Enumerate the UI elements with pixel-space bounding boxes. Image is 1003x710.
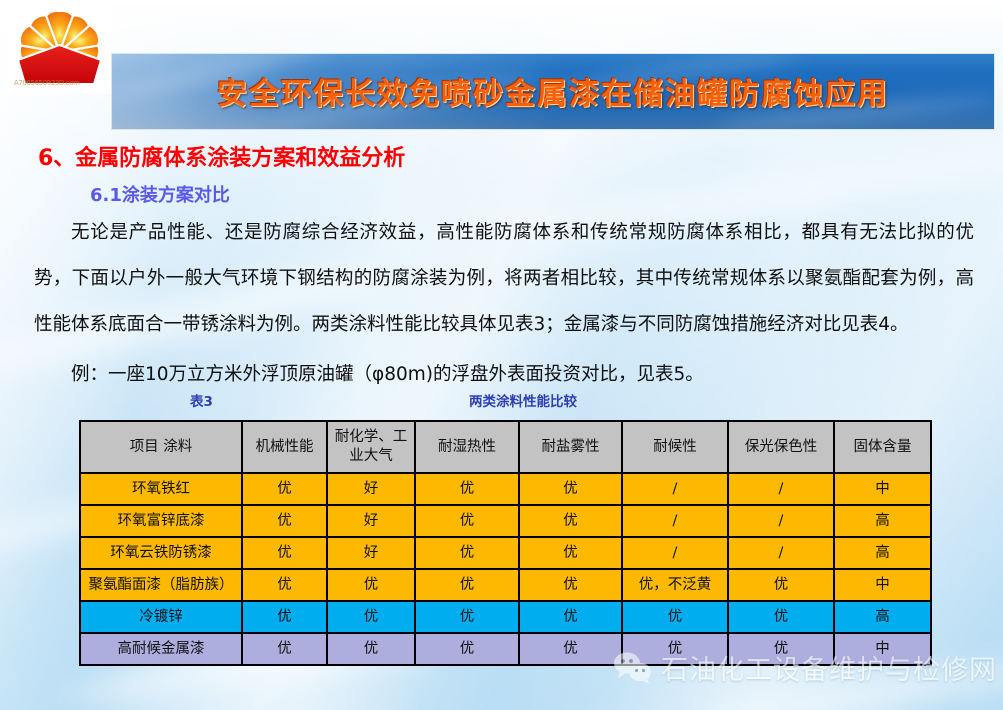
table-row-label: 环氧富锌底漆 — [80, 505, 242, 537]
table-cell: 优 — [242, 601, 327, 633]
table-row: 冷镀锌优优优优优优高 — [80, 601, 931, 633]
subsection-heading: 6.1涂装方案对比 — [90, 181, 230, 207]
table-row-label: 聚氨酯面漆（脂肪族） — [80, 569, 242, 601]
table-cell: 优 — [327, 601, 415, 633]
table-cell: 中 — [834, 473, 931, 505]
table-cell: 优 — [622, 633, 728, 665]
table-row: 环氧铁红优好优优//中 — [80, 473, 931, 505]
table-row: 环氧富锌底漆优好优优//高 — [80, 505, 931, 537]
table-cell: 好 — [327, 473, 415, 505]
table-header-cell: 项目 涂料 — [80, 421, 242, 473]
table-header-cell: 耐化学、工业大气 — [327, 421, 415, 473]
title-banner: 安全环保长效免喷砂金属漆在储油罐防腐蚀应用 — [111, 53, 995, 130]
table-header-cell: 固体含量 — [834, 421, 931, 473]
table-header-row: 项目 涂料 机械性能 耐化学、工业大气 耐湿热性 耐盐雾性 耐候性 保光保色性 … — [80, 421, 931, 473]
table-cell: 高 — [834, 537, 931, 569]
table-header-cell: 机械性能 — [242, 421, 327, 473]
table-cell: 好 — [327, 505, 415, 537]
table-cell: 优 — [728, 633, 834, 665]
section-heading: 6、金属防腐体系涂装方案和效益分析 — [38, 140, 405, 172]
coating-performance-table: 项目 涂料 机械性能 耐化学、工业大气 耐湿热性 耐盐雾性 耐候性 保光保色性 … — [79, 420, 932, 666]
table-cell: 优 — [415, 569, 519, 601]
table-cell: 好 — [327, 537, 415, 569]
table-cell: / — [728, 473, 834, 505]
table-row-label: 环氧铁红 — [80, 473, 242, 505]
table-cell: / — [728, 537, 834, 569]
presentation-slide: A7065650923D.com 安全环保长效免喷砂金属漆在储油罐防腐蚀应用 6… — [0, 0, 1003, 710]
table-cell: 优 — [519, 569, 622, 601]
body-text: 无论是产品性能、还是防腐综合经济效益，高性能防腐体系和传统常规防腐体系相比，都具… — [34, 210, 974, 398]
table-row-label: 高耐候金属漆 — [80, 633, 242, 665]
table-row-label: 冷镀锌 — [80, 601, 242, 633]
table-cell: 高 — [834, 505, 931, 537]
table-cell: 优 — [519, 505, 622, 537]
table-cell: 优 — [242, 537, 327, 569]
table-header-cell: 耐盐雾性 — [519, 421, 622, 473]
table-caption-label: 表3 — [190, 390, 213, 410]
body-paragraph-1: 无论是产品性能、还是防腐综合经济效益，高性能防腐体系和传统常规防腐体系相比，都具… — [34, 210, 974, 348]
table-cell: 优 — [728, 569, 834, 601]
table-cell: 优，不泛黄 — [622, 569, 728, 601]
table-row-label: 环氧云铁防锈漆 — [80, 537, 242, 569]
table-cell: 优 — [242, 473, 327, 505]
table-cell: 中 — [834, 569, 931, 601]
table-cell: 优 — [519, 601, 622, 633]
table-cell: / — [728, 505, 834, 537]
table-header-cell: 耐湿热性 — [415, 421, 519, 473]
table-cell: 优 — [327, 633, 415, 665]
table-cell: / — [622, 505, 728, 537]
table-caption-title: 两类涂料性能比较 — [469, 390, 577, 410]
table-cell: 优 — [242, 505, 327, 537]
table-row: 高耐候金属漆优优优优优优中 — [80, 633, 931, 665]
table-cell: 中 — [834, 633, 931, 665]
table-cell: 高 — [834, 601, 931, 633]
table-cell: 优 — [415, 601, 519, 633]
table-cell: 优 — [415, 473, 519, 505]
table-cell: 优 — [415, 537, 519, 569]
logo-watermark-text: A7065650923D.com — [14, 79, 80, 87]
table-cell: 优 — [242, 569, 327, 601]
table-cell: 优 — [242, 633, 327, 665]
table-caption: 表3 两类涂料性能比较 — [0, 390, 1003, 410]
table-cell: 优 — [728, 601, 834, 633]
table-header-cell: 保光保色性 — [728, 421, 834, 473]
table-cell: 优 — [519, 633, 622, 665]
table-cell: / — [622, 473, 728, 505]
table-row: 环氧云铁防锈漆优好优优//高 — [80, 537, 931, 569]
table-cell: 优 — [327, 569, 415, 601]
table-cell: / — [622, 537, 728, 569]
petrochina-logo: A7065650923D.com — [8, 4, 111, 94]
table-cell: 优 — [415, 505, 519, 537]
table-header-cell: 耐候性 — [622, 421, 728, 473]
banner-title-text: 安全环保长效免喷砂金属漆在储油罐防腐蚀应用 — [112, 69, 994, 113]
table-cell: 优 — [519, 473, 622, 505]
table-row: 聚氨酯面漆（脂肪族）优优优优优，不泛黄优中 — [80, 569, 931, 601]
table-cell: 优 — [622, 601, 728, 633]
table-cell: 优 — [415, 633, 519, 665]
table-cell: 优 — [519, 537, 622, 569]
